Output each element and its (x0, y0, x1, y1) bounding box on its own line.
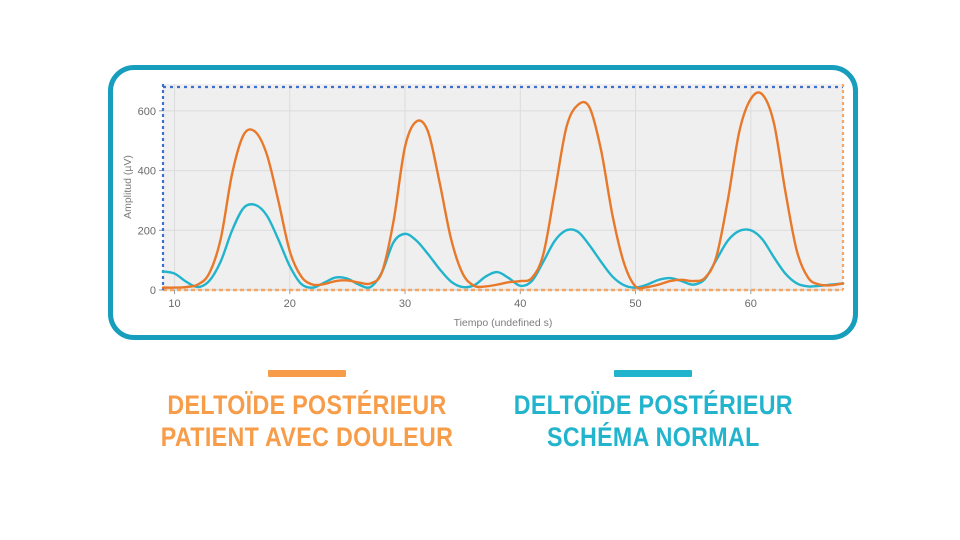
x-axis-title: Tiempo (undefined s) (454, 317, 553, 329)
x-tick-20: 20 (284, 298, 296, 310)
y-axis-title: Amplitud (µV) (122, 155, 134, 219)
x-tick-10: 10 (168, 298, 180, 310)
legend-label-pain: DELTOÏDE POSTÉRIEUR PATIENT AVEC DOULEUR (161, 390, 453, 454)
y-tick-600: 600 (138, 106, 156, 118)
y-tick-0: 0 (150, 285, 156, 297)
x-tick-50: 50 (629, 298, 641, 310)
legend-label-normal-line2: SCHÉMA NORMAL (513, 422, 792, 454)
legend-label-normal-line1: DELTOÏDE POSTÉRIEUR (513, 390, 792, 422)
x-tick-labels: 102030405060 (168, 290, 757, 310)
legend-label-pain-line2: PATIENT AVEC DOULEUR (161, 422, 453, 454)
chart-frame: 0200400600 102030405060 Amplitud (µV) Ti… (108, 65, 858, 340)
y-tick-200: 200 (138, 225, 156, 237)
x-tick-60: 60 (745, 298, 757, 310)
plot-background (163, 84, 843, 290)
legend-swatch-icon-normal (614, 370, 692, 377)
x-tick-40: 40 (514, 298, 526, 310)
legend: DELTOÏDE POSTÉRIEUR PATIENT AVEC DOULEUR… (0, 370, 960, 454)
legend-swatch-icon-pain (268, 370, 346, 377)
legend-label-pain-line1: DELTOÏDE POSTÉRIEUR (161, 390, 453, 422)
y-tick-400: 400 (138, 166, 156, 178)
legend-item-normal[interactable]: DELTOÏDE POSTÉRIEUR SCHÉMA NORMAL (503, 370, 803, 454)
emg-line-chart: 0200400600 102030405060 Amplitud (µV) Ti… (113, 70, 863, 345)
y-tick-labels: 0200400600 (138, 106, 163, 297)
legend-item-pain[interactable]: DELTOÏDE POSTÉRIEUR PATIENT AVEC DOULEUR (157, 370, 457, 454)
legend-label-normal: DELTOÏDE POSTÉRIEUR SCHÉMA NORMAL (513, 390, 792, 454)
x-tick-30: 30 (399, 298, 411, 310)
